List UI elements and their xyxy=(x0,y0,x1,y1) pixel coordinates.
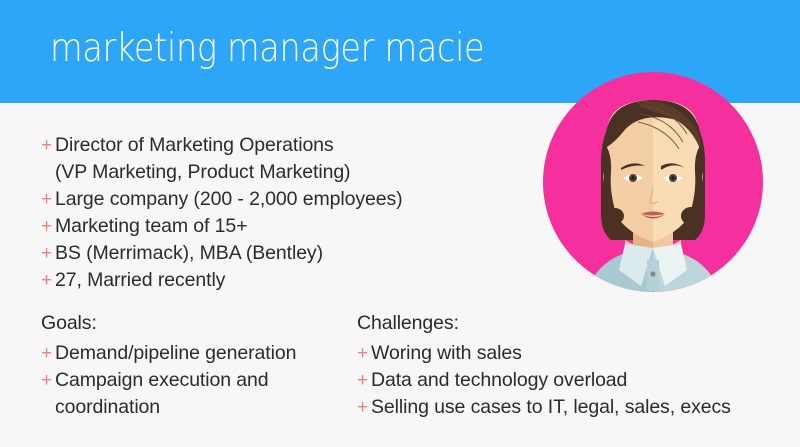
plus-icon: + xyxy=(357,394,371,421)
avatar xyxy=(543,72,763,292)
shirt-button xyxy=(650,271,655,276)
list-item-label: 27, Married recently xyxy=(55,267,225,294)
list-item: + BS (Merrimack), MBA (Bentley) xyxy=(41,240,403,267)
plus-icon: + xyxy=(41,213,55,240)
plus-icon: + xyxy=(357,367,371,394)
list-item: + (VP Marketing, Product Marketing) xyxy=(41,159,403,186)
plus-icon: + xyxy=(357,340,371,367)
list-item: + Demand/pipeline generation xyxy=(41,340,296,367)
goals-bullet-list: + Demand/pipeline generation + Campaign … xyxy=(41,340,296,421)
list-item: + Woring with sales xyxy=(357,340,731,367)
challenges-heading: Challenges: xyxy=(357,310,731,337)
plus-icon: + xyxy=(41,132,55,159)
challenges-bullet-list: + Woring with sales + Data and technolog… xyxy=(357,340,731,421)
list-item-label: Director of Marketing Operations xyxy=(55,132,334,159)
list-item: + coordination xyxy=(41,394,296,421)
list-item-label: Large company (200 - 2,000 employees) xyxy=(55,186,403,213)
persona-slide: marketing manager macie xyxy=(0,0,800,447)
list-item: + 27, Married recently xyxy=(41,267,403,294)
list-item: + Large company (200 - 2,000 employees) xyxy=(41,186,403,213)
profile-bullet-list: + Director of Marketing Operations + (VP… xyxy=(41,132,403,294)
list-item-label: (VP Marketing, Product Marketing) xyxy=(55,159,350,186)
list-item: + Data and technology overload xyxy=(357,367,731,394)
goals-section: Goals: + Demand/pipeline generation + Ca… xyxy=(41,310,296,421)
list-item: + Selling use cases to IT, legal, sales,… xyxy=(357,394,731,421)
challenges-section: Challenges: + Woring with sales + Data a… xyxy=(357,310,731,421)
plus-icon: + xyxy=(41,340,55,367)
list-item-label: Woring with sales xyxy=(371,340,522,367)
plus-icon: + xyxy=(41,186,55,213)
list-item: + Campaign execution and xyxy=(41,367,296,394)
page-title: marketing manager macie xyxy=(50,28,484,71)
list-item-label: Data and technology overload xyxy=(371,367,627,394)
plus-icon: + xyxy=(41,367,55,394)
plus-icon: + xyxy=(41,240,55,267)
list-item-label: coordination xyxy=(55,394,160,421)
goals-heading: Goals: xyxy=(41,310,296,337)
list-item-label: Marketing team of 15+ xyxy=(55,213,247,240)
list-item-label: Demand/pipeline generation xyxy=(55,340,296,367)
list-item-label: Selling use cases to IT, legal, sales, e… xyxy=(371,394,731,421)
list-item-label: BS (Merrimack), MBA (Bentley) xyxy=(55,240,323,267)
plus-icon: + xyxy=(41,267,55,294)
list-item-label: Campaign execution and xyxy=(55,367,269,394)
list-item: + Director of Marketing Operations xyxy=(41,132,403,159)
list-item: + Marketing team of 15+ xyxy=(41,213,403,240)
